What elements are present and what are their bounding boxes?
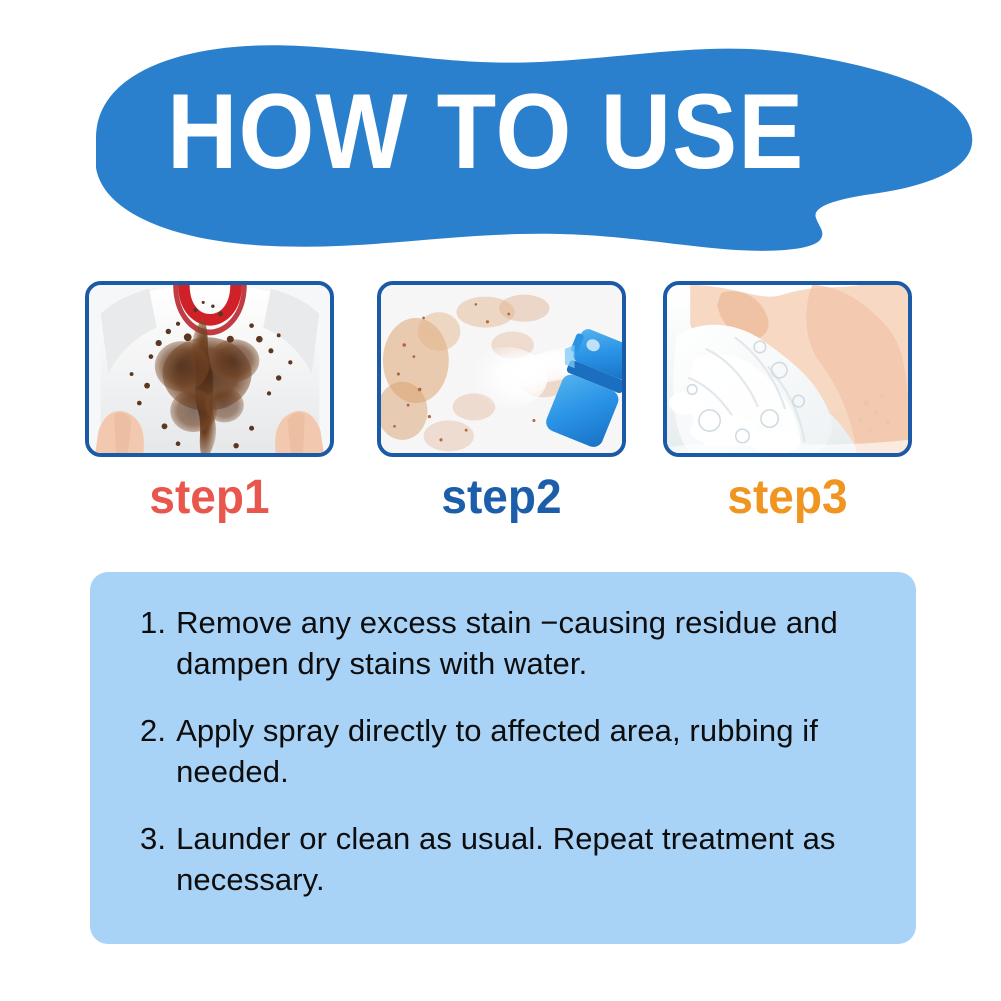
step-panels [0,281,1001,457]
how-to-use-infographic: HOW TO USE [0,0,1001,1001]
instruction-item-1: 1. Remove any excess stain −causing resi… [118,602,890,684]
step-caption-2: step2 [377,467,626,526]
step-panel-2[interactable] [377,281,626,457]
banner: HOW TO USE [0,18,1001,258]
step-caption-3: step3 [663,467,912,526]
instruction-number-3: 3. [118,818,176,900]
step-panel-3[interactable] [663,281,912,457]
instruction-number-1: 1. [118,602,176,684]
step-captions: step1 step2 step3 [0,468,1001,524]
instruction-text-3: Launder or clean as usual. Repeat treatm… [176,818,890,900]
instructions-panel: 1. Remove any excess stain −causing resi… [90,572,916,944]
page-title: HOW TO USE [0,0,1001,277]
stained-shirt-icon [89,285,330,455]
instruction-number-2: 2. [118,710,176,792]
instruction-text-2: Apply spray directly to affected area, r… [176,710,890,792]
instruction-item-3: 3. Launder or clean as usual. Repeat tre… [118,818,890,900]
instruction-text-1: Remove any excess stain −causing residue… [176,602,890,684]
hand-washing-icon [667,285,908,455]
step-caption-1: step1 [85,467,334,526]
step-panel-1[interactable] [85,281,334,457]
instruction-item-2: 2. Apply spray directly to affected area… [118,710,890,792]
spray-bottle-icon [381,285,622,455]
